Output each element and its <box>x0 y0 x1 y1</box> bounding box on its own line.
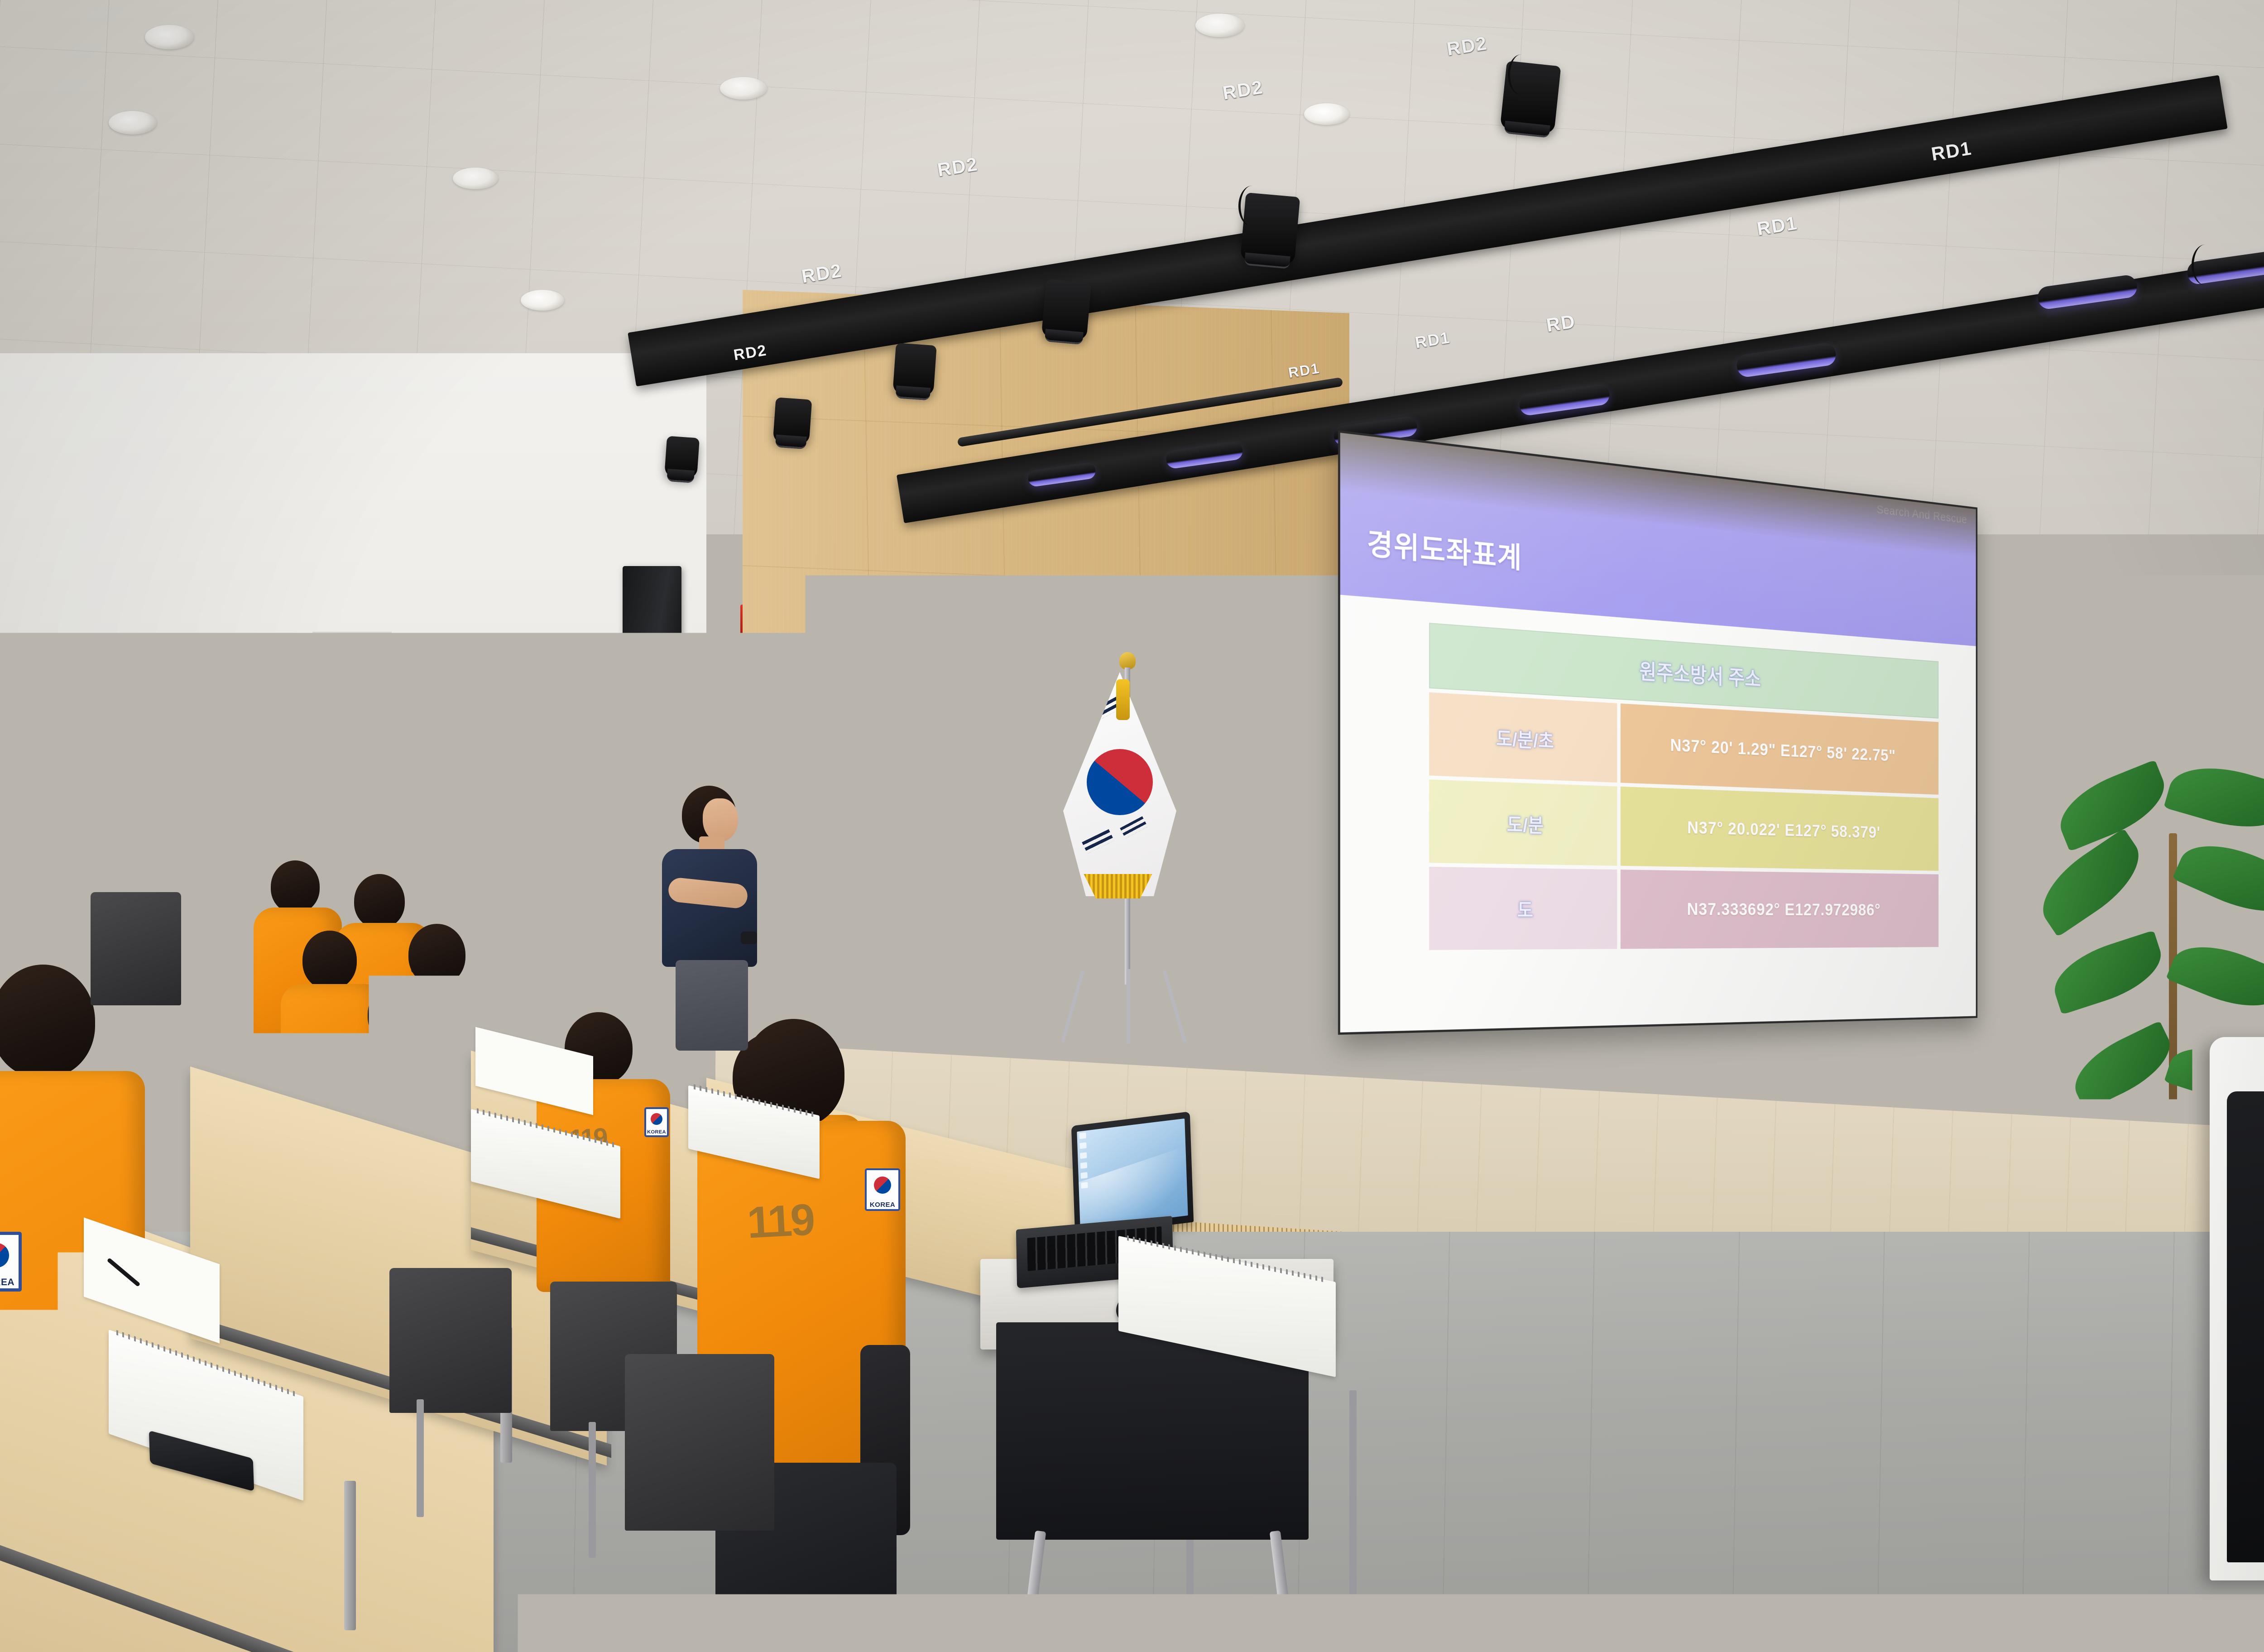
ceiling-downlight <box>453 168 498 189</box>
laptop-display[interactable] <box>1077 1119 1188 1229</box>
desktop-icon[interactable] <box>1080 1152 1087 1159</box>
korea-shoulder-patch: KOREA <box>0 1232 22 1292</box>
plant-leaf <box>2172 829 2264 928</box>
coordinate-table: 원주소방서 주소 도/분/초 N37° 20' 1.29" E127° 58' … <box>1425 619 1942 954</box>
ceiling-downlight <box>1304 103 1349 125</box>
row-value-dms: N37° 20' 1.29" E127° 58' 22.75" <box>1621 703 1939 795</box>
instructor-face <box>703 798 738 842</box>
stage-spotlight <box>892 343 937 396</box>
chair-leg <box>1349 1390 1357 1617</box>
korea-shoulder-patch: KOREA <box>194 919 212 942</box>
attendee-head <box>354 874 405 928</box>
flag-tripod-leg <box>1127 969 1130 1044</box>
patch-text: KOREA <box>646 1129 667 1135</box>
attendee-head <box>302 931 357 989</box>
attendee-uniform <box>344 1041 456 1218</box>
row-value-dm: N37° 20.022' E127° 58.379' <box>1621 787 1939 871</box>
chair-leg <box>589 1422 596 1558</box>
taeguk-symbol <box>199 924 207 932</box>
plant-leaf <box>2163 754 2264 840</box>
ceiling-downlight <box>145 25 194 49</box>
wall-speaker <box>623 566 681 697</box>
desktop-icon[interactable] <box>1080 1162 1087 1169</box>
instructor <box>652 786 779 1048</box>
door-vent-slots <box>1197 686 1266 809</box>
handrail-post <box>1214 899 1219 1019</box>
stacking-chair[interactable] <box>625 1354 774 1531</box>
attendee-head <box>408 924 465 985</box>
lighting-cable <box>1238 186 1266 226</box>
spotlight-lens <box>667 469 695 483</box>
uniform-119-badge: 119 <box>371 1075 402 1101</box>
table-leg <box>344 1481 356 1630</box>
projected-slide: Search And Rescue 경위도좌표계 원주소방서 주소 도/분/초 … <box>1338 430 1977 1035</box>
flag-trigram <box>1082 829 1114 854</box>
korea-shoulder-patch: KOREA <box>865 1168 900 1211</box>
door-grille <box>1202 813 1262 872</box>
chair-leg <box>765 1449 772 1599</box>
ceiling-downlight <box>109 111 157 134</box>
wall-display-panel <box>899 720 996 819</box>
spotlight-lens <box>775 435 806 450</box>
ceiling-downlight <box>1195 14 1244 37</box>
desktop-icon[interactable] <box>1080 1172 1087 1179</box>
plant-leaf <box>2046 930 2169 1015</box>
flag-pole-finial <box>1119 652 1136 669</box>
plant-leaf <box>2028 828 2154 937</box>
training-room-scene: RD2 RD2 RD2 RD2 RD2 RD RD1 RD1 RD1 RD1 S… <box>0 0 2264 1652</box>
flag-trigram <box>1120 816 1148 838</box>
plant-leaf <box>2166 932 2264 1021</box>
korea-shoulder-patch: KOREA <box>644 1107 669 1137</box>
slide-body: 원주소방서 주소 도/분/초 N37° 20' 1.29" E127° 58' … <box>1340 595 1976 1032</box>
korean-flag-assembly <box>1050 652 1195 1046</box>
handrail-post <box>833 901 839 1021</box>
uniform-black-sleeve <box>41 1390 109 1522</box>
instructor-watch <box>741 932 757 944</box>
stacking-chair[interactable] <box>91 892 181 1005</box>
plant-leaf <box>2064 1021 2181 1111</box>
stage-spotlight <box>773 397 812 445</box>
projection-screen: Search And Rescue 경위도좌표계 원주소방서 주소 도/분/초 … <box>1338 430 1977 1035</box>
taeguk-symbol <box>874 1177 891 1194</box>
taeguk-symbol <box>0 1243 9 1268</box>
slide-title: 경위도좌표계 <box>1367 519 1522 576</box>
desktop-icons[interactable] <box>1079 1132 1095 1193</box>
row-label-dm: 도/분 <box>1429 779 1617 865</box>
attendee-head <box>0 965 95 1078</box>
desktop-icon[interactable] <box>1079 1142 1086 1149</box>
window-blinds <box>312 632 392 885</box>
lectern-front-panel <box>2227 1091 2264 1562</box>
table-row: 도 N37.333692° E127.972986° <box>1429 867 1938 950</box>
row-label-d: 도 <box>1429 867 1617 950</box>
attendee-head <box>368 983 426 1046</box>
instructor-shirt <box>662 849 757 967</box>
attendee-head <box>208 851 255 902</box>
patch-text: KOREA <box>867 1201 898 1209</box>
uniform-119-badge: 119 <box>746 1194 815 1248</box>
desktop-icon[interactable] <box>1079 1132 1086 1139</box>
row-value-d: N37.333692° E127.972986° <box>1621 869 1939 949</box>
flag-tripod-leg <box>1162 970 1186 1043</box>
spotlight-lens <box>896 385 931 400</box>
chair-leg <box>417 1399 424 1517</box>
desktop-icon[interactable] <box>1081 1182 1088 1189</box>
attendee-head <box>271 860 320 913</box>
window-blinds <box>543 634 616 869</box>
laptop-screen-lid[interactable] <box>1071 1111 1194 1236</box>
flag-tassel <box>1116 679 1130 720</box>
flag-tripod-leg <box>1060 970 1084 1043</box>
ceiling-downlight <box>521 290 564 311</box>
digital-lectern[interactable] <box>2210 1037 2264 1580</box>
attendee: 119 <box>344 983 457 1218</box>
patch-text: KOREA <box>0 1277 19 1288</box>
ceiling-downlight <box>720 77 767 100</box>
flag-taeguk-circle <box>1087 749 1153 815</box>
table-row: 도/분 N37° 20.022' E127° 58.379' <box>1429 779 1938 871</box>
patch-text: KOREA <box>196 936 210 940</box>
lighting-cable <box>1508 54 1535 95</box>
stage-spotlight <box>1041 279 1092 341</box>
truss-label-rd: RD <box>1545 310 1577 336</box>
stage-spotlight <box>664 436 700 479</box>
lighting-cable <box>2192 245 2219 285</box>
stacking-chair[interactable] <box>389 1268 512 1413</box>
row-label-dms: 도/분/초 <box>1429 692 1617 782</box>
